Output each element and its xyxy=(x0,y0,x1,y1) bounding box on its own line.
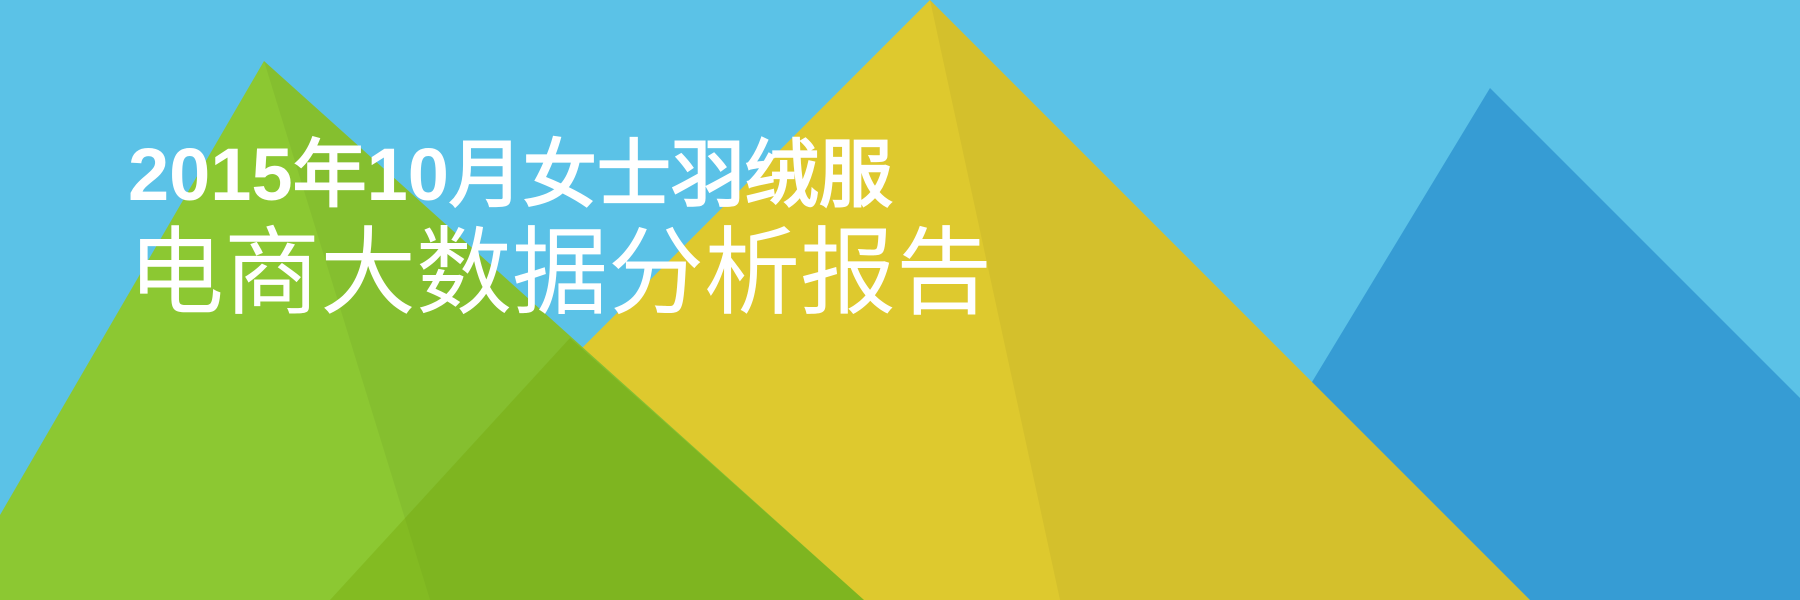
background-geometric-artwork xyxy=(0,0,1800,600)
report-cover-banner: 2015年10月女士羽绒服 电商大数据分析报告 xyxy=(0,0,1800,600)
